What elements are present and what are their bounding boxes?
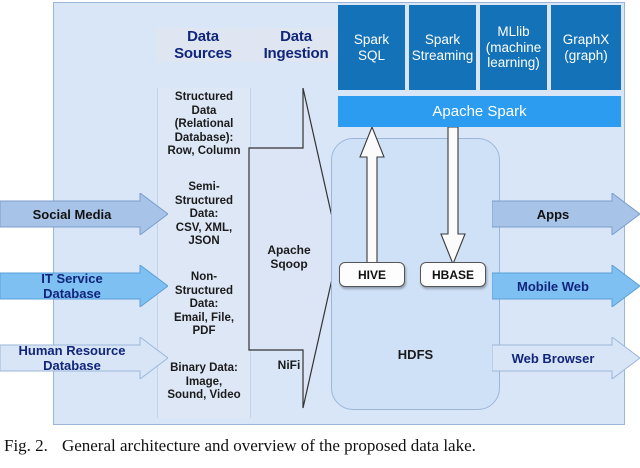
- data-sources-header-line2: Sources: [157, 45, 249, 62]
- spark-component-line: GraphX: [563, 32, 610, 48]
- source-line: Image,: [158, 376, 250, 390]
- output-arrow-apps[interactable]: Apps: [492, 193, 640, 235]
- spark-component-spark-streaming[interactable]: Spark Streaming: [409, 5, 476, 90]
- input-arrow-label-line: IT Service: [41, 271, 102, 286]
- source-line: Row, Column: [158, 145, 250, 159]
- input-arrow-label-line: Database: [19, 358, 126, 373]
- source-line: CSV, XML,: [158, 222, 250, 236]
- apache-spark-label: Apache Spark: [432, 103, 526, 120]
- source-line: Email, File,: [158, 312, 250, 326]
- source-line: Binary Data:: [158, 362, 250, 376]
- ingestion-tool-line: Sqoop: [253, 257, 325, 271]
- data-ingestion-header: Data Ingestion: [250, 28, 342, 62]
- spark-component-line: (machine: [486, 40, 542, 56]
- data-sources-column: Structured Data (Relational Database): R…: [157, 88, 251, 418]
- storage-hbase[interactable]: HBASE: [420, 262, 486, 287]
- output-arrow-mobile-web[interactable]: Mobile Web: [492, 265, 640, 307]
- source-line: Data:: [158, 208, 250, 222]
- source-line: Structured: [158, 195, 250, 209]
- spark-component-graphx[interactable]: GraphX (graph): [551, 5, 621, 90]
- source-line: Structured: [158, 91, 250, 105]
- input-arrow-label: Human Resource Database: [0, 337, 168, 379]
- ingestion-tool-sqoop: Apache Sqoop: [253, 243, 325, 271]
- source-line: PDF: [158, 325, 250, 339]
- source-line: Semi-: [158, 181, 250, 195]
- input-arrow-it-service-database[interactable]: IT Service Database: [0, 265, 168, 307]
- spark-component-line: learning): [486, 55, 542, 71]
- source-line: Structured: [158, 285, 250, 299]
- input-arrow-social-media[interactable]: Social Media: [0, 193, 168, 235]
- storage-hive[interactable]: HIVE: [339, 262, 405, 287]
- source-line: Database):: [158, 132, 250, 146]
- hdfs-label: HDFS: [331, 347, 500, 362]
- input-arrow-label: IT Service Database: [0, 265, 168, 307]
- source-line: Data: [158, 105, 250, 119]
- spark-component-line: Streaming: [412, 48, 474, 64]
- source-line: Data:: [158, 298, 250, 312]
- spark-component-mllib[interactable]: MLlib (machine learning): [480, 5, 547, 90]
- input-arrow-human-resource-database[interactable]: Human Resource Database: [0, 337, 168, 379]
- input-arrow-label-line: Database: [41, 286, 102, 301]
- figure-caption-text: General architecture and overview of the…: [62, 436, 476, 455]
- source-line: JSON: [158, 235, 250, 249]
- storage-hbase-label: HBASE: [432, 268, 474, 282]
- figure-caption: Fig. 2.General architecture and overview…: [4, 436, 636, 456]
- spark-component-line: (graph): [563, 48, 610, 64]
- data-source-structured: Structured Data (Relational Database): R…: [158, 91, 250, 159]
- hbase-down-arrow-icon: [437, 127, 469, 264]
- source-line: Non-: [158, 271, 250, 285]
- ingestion-tool-line: Apache: [253, 243, 325, 257]
- ingestion-tool-nifi: NiFi: [253, 358, 325, 372]
- input-arrow-label-line: Human Resource: [19, 343, 126, 358]
- data-source-binary: Binary Data: Image, Sound, Video: [158, 362, 250, 403]
- data-source-semi-structured: Semi- Structured Data: CSV, XML, JSON: [158, 181, 250, 249]
- spark-component-line: SQL: [354, 48, 389, 64]
- apache-spark-platform-bar[interactable]: Apache Spark: [338, 96, 621, 127]
- spark-component-line: Spark: [412, 32, 474, 48]
- hive-up-arrow-icon: [356, 127, 388, 264]
- data-ingestion-header-line1: Data: [250, 28, 342, 45]
- output-arrow-label: Web Browser: [492, 337, 640, 379]
- source-line: (Relational: [158, 118, 250, 132]
- data-sources-header-line1: Data: [157, 28, 249, 45]
- architecture-diagram: Data Sources Data Ingestion Structured D…: [0, 0, 640, 430]
- input-arrow-label: Social Media: [0, 193, 168, 235]
- storage-hive-label: HIVE: [358, 268, 386, 282]
- spark-component-line: MLlib: [486, 24, 542, 40]
- output-arrow-label: Apps: [492, 193, 640, 235]
- source-line: Sound, Video: [158, 389, 250, 403]
- data-source-non-structured: Non- Structured Data: Email, File, PDF: [158, 271, 250, 339]
- spark-component-line: Spark: [354, 32, 389, 48]
- output-arrow-web-browser[interactable]: Web Browser: [492, 337, 640, 379]
- data-sources-header: Data Sources: [157, 28, 249, 62]
- data-ingestion-header-line2: Ingestion: [250, 45, 342, 62]
- output-arrow-label: Mobile Web: [492, 265, 640, 307]
- spark-component-spark-sql[interactable]: Spark SQL: [338, 5, 405, 90]
- figure-number: Fig. 2.: [4, 436, 48, 455]
- ingestion-tool-line: NiFi: [253, 358, 325, 372]
